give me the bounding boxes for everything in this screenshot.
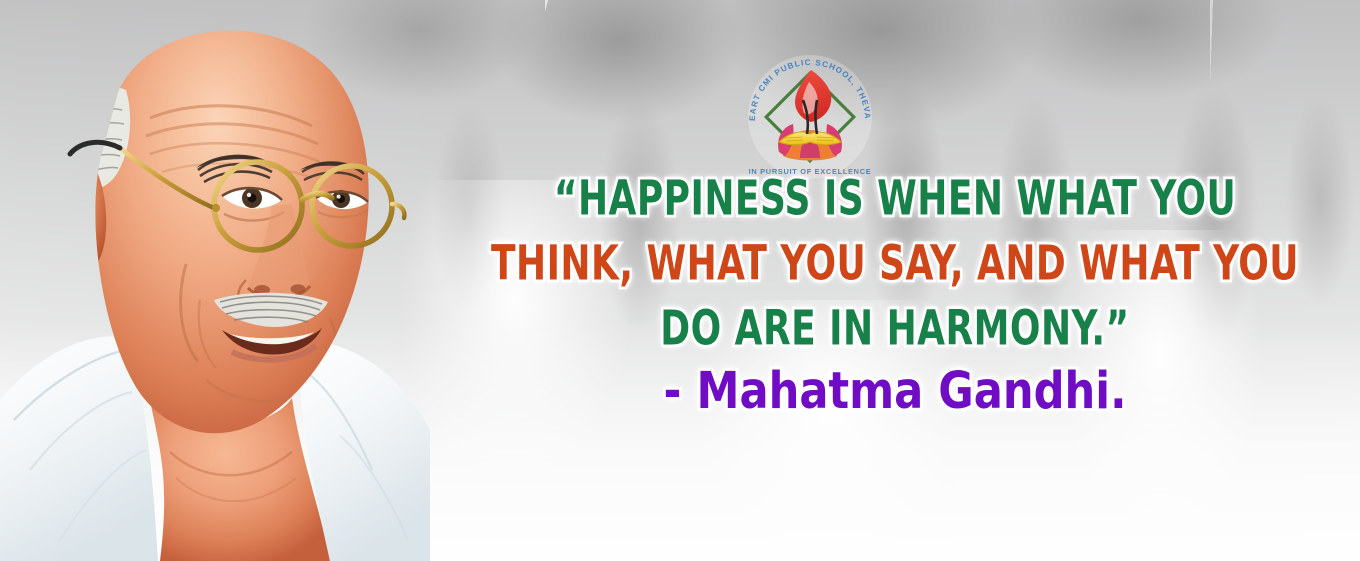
quote-attribution: - Mahatma Gandhi.: [430, 366, 1360, 416]
gandhi-portrait: [0, 0, 430, 561]
quote-line-3: DO ARE IN HARMONY.”: [463, 305, 1328, 353]
quote-line-2: THINK, WHAT YOU SAY, AND WHAT YOU: [463, 240, 1328, 288]
gandhi-quote-banner: SACRED HEART CMI PUBLIC SCHOOL, THEVARA,…: [0, 0, 1360, 561]
school-logo: SACRED HEART CMI PUBLIC SCHOOL, THEVARA,…: [745, 52, 875, 182]
quote-line-1: “HAPPINESS IS WHEN WHAT YOU: [463, 175, 1328, 223]
quote-block: “HAPPINESS IS WHEN WHAT YOU THINK, WHAT …: [430, 178, 1360, 415]
